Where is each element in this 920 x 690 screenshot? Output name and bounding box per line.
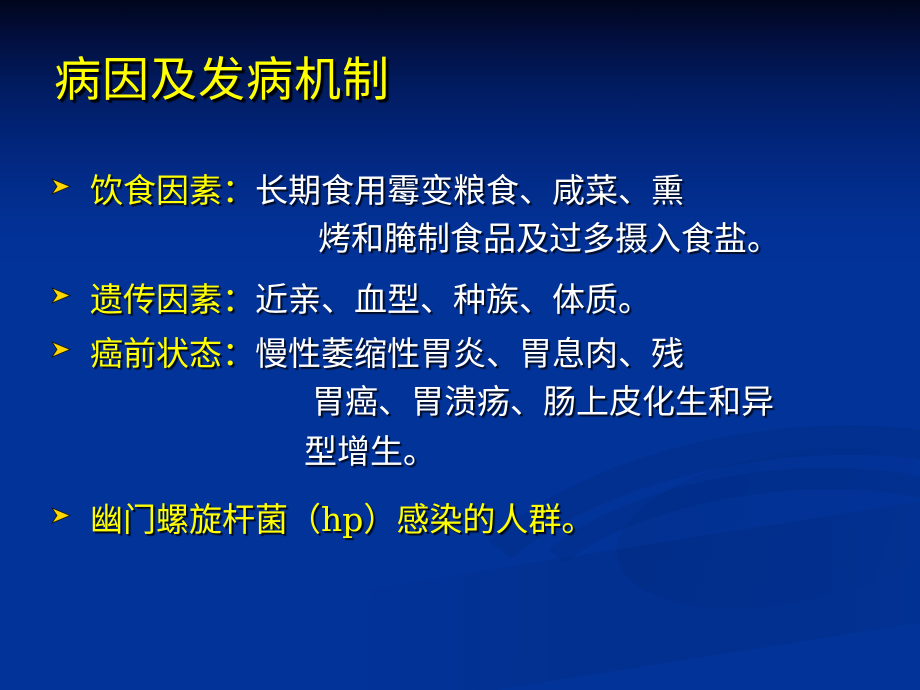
bullet-continuation-3-2: 型增生。 <box>90 427 908 477</box>
bullet-arrow-icon-4 <box>48 503 74 529</box>
bullet-list: 饮食因素：长期食用霉变粮食、咸菜、熏 烤和腌制食品及过多摄入食盐。 遗传因素：近… <box>48 168 908 547</box>
bullet-continuation-1-1: 烤和腌制食品及过多摄入食盐。 <box>90 214 908 264</box>
bullet-value-1: 长期食用霉变粮食、咸菜、熏 <box>255 171 684 210</box>
bullet-line-3: 癌前状态：慢性萎缩性胃炎、胃息肉、残 <box>90 331 908 377</box>
bullet-item-3: 癌前状态：慢性萎缩性胃炎、胃息肉、残 胃癌、胃溃疡、肠上皮化生和异 型增生。 <box>48 331 908 477</box>
bullet-arrow-icon-1 <box>48 174 74 200</box>
slide-title: 病因及发病机制 <box>54 52 390 110</box>
slide-canvas: 病因及发病机制 饮食因素：长期食用霉变粮食、咸菜、熏 烤和腌制食品及过多摄入食盐… <box>0 0 920 690</box>
bullet-line-4: 幽门螺旋杆菌（hp）感染的人群。 <box>90 497 908 543</box>
bullet-line-2: 遗传因素：近亲、血型、种族、体质。 <box>90 277 908 323</box>
bullet-label-4: 幽门螺旋杆菌（hp）感染的人群。 <box>90 500 594 539</box>
spacer-3 <box>48 481 908 497</box>
bullet-label-2: 遗传因素： <box>90 280 255 319</box>
bullet-item-1: 饮食因素：长期食用霉变粮食、咸菜、熏 烤和腌制食品及过多摄入食盐。 <box>48 168 908 264</box>
bullet-continuation-3-1: 胃癌、胃溃疡、肠上皮化生和异 <box>90 377 908 427</box>
bullet-value-2: 近亲、血型、种族、体质。 <box>255 280 651 319</box>
bullet-item-4: 幽门螺旋杆菌（hp）感染的人群。 <box>48 497 908 543</box>
bullet-item-2: 遗传因素：近亲、血型、种族、体质。 <box>48 277 908 323</box>
bullet-label-3: 癌前状态： <box>90 334 255 373</box>
bullet-arrow-icon-2 <box>48 283 74 309</box>
bullet-arrow-icon-3 <box>48 337 74 363</box>
bullet-value-3: 慢性萎缩性胃炎、胃息肉、残 <box>255 334 684 373</box>
bullet-line-1: 饮食因素：长期食用霉变粮食、咸菜、熏 <box>90 168 908 214</box>
bullet-label-1: 饮食因素： <box>90 171 255 210</box>
spacer-1 <box>48 268 908 277</box>
